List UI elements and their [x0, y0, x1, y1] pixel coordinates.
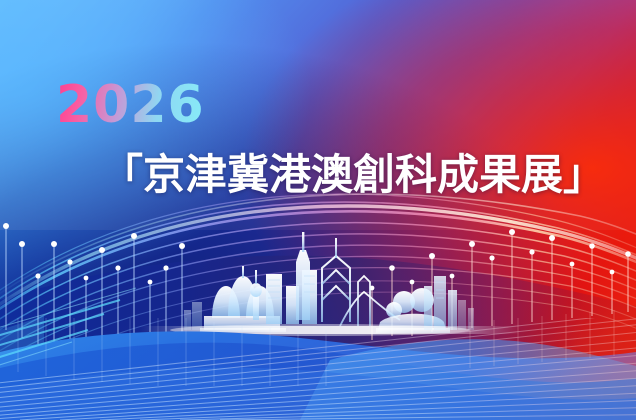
event-title: 「京津冀港澳創科成果展」	[101, 154, 605, 196]
year-label: 2026	[56, 79, 205, 131]
event-banner: 2026 「京津冀港澳創科成果展」	[0, 0, 636, 420]
cyan-accent-streaks	[0, 0, 636, 420]
